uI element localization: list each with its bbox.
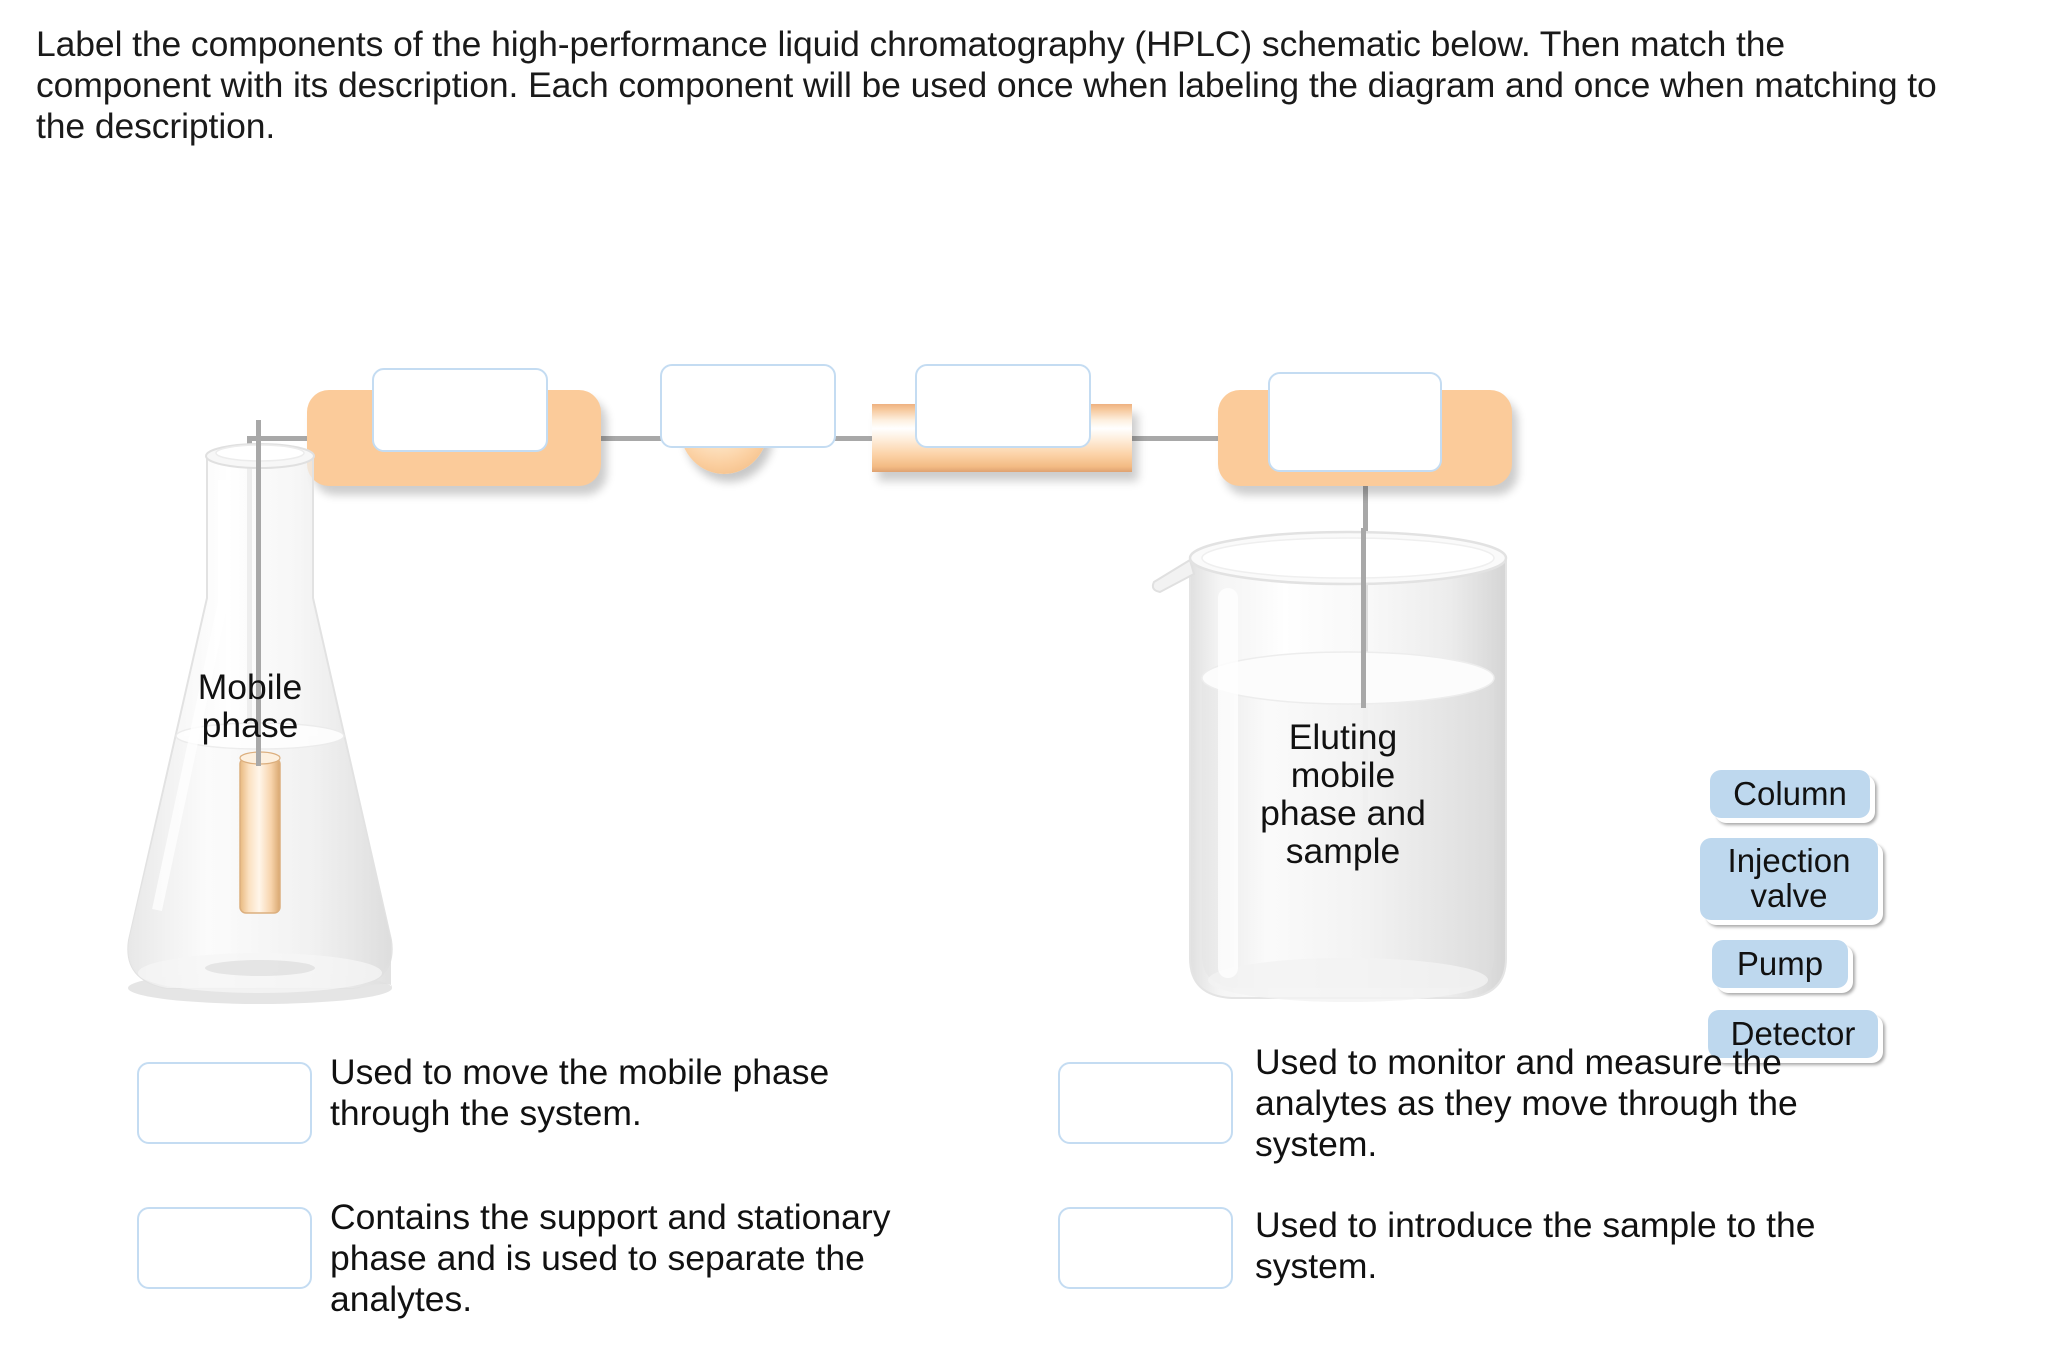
description-matching-area: Used to move the mobile phase through th… (0, 1040, 2046, 1353)
chip-column[interactable]: Column (1710, 770, 1870, 818)
chip-pump[interactable]: Pump (1712, 940, 1848, 988)
eluting-collection-beaker: Eluting mobile phase and sample (1148, 528, 1548, 1028)
mobile-phase-flask: Mobile phase (95, 420, 425, 1020)
diagram-label-slot-3[interactable] (915, 364, 1091, 448)
chip-injection-valve[interactable]: Injection valve (1700, 838, 1878, 920)
beaker-icon (1148, 528, 1548, 1028)
description-text-2: Contains the support and stationary phas… (330, 1197, 995, 1319)
description-text-4: Used to introduce the sample to the syst… (1255, 1205, 1875, 1287)
description-answer-slot-3[interactable] (1058, 1062, 1233, 1144)
description-answer-slot-2[interactable] (137, 1207, 312, 1289)
description-answer-slot-1[interactable] (137, 1062, 312, 1144)
diagram-label-slot-4[interactable] (1268, 372, 1442, 472)
diagram-label-slot-2[interactable] (660, 364, 836, 448)
description-answer-slot-4[interactable] (1058, 1207, 1233, 1289)
description-text-3: Used to monitor and measure the analytes… (1255, 1042, 1885, 1164)
tubing-column-to-detector (1128, 436, 1223, 441)
flask-icon (95, 420, 425, 1020)
hplc-schematic: Mobile phase (0, 150, 2046, 1030)
description-text-1: Used to move the mobile phase through th… (330, 1052, 930, 1134)
instructions-text: Label the components of the high-perform… (36, 24, 1966, 148)
